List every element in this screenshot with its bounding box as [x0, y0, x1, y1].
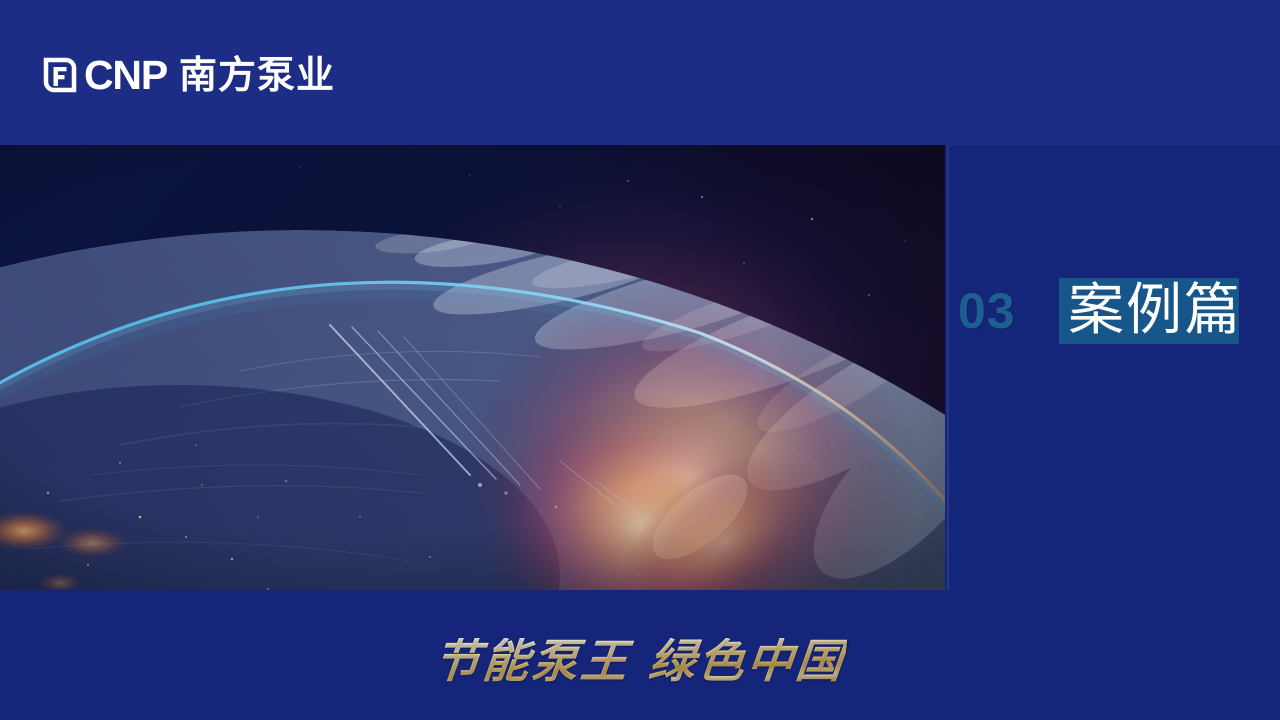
footer-bar: 节能泵王 绿色中国 — [0, 590, 1280, 720]
section-title: 案例篇 — [1068, 281, 1242, 341]
cnp-monogram-icon — [40, 56, 78, 94]
logo-chinese-text: 南方泵业 — [179, 56, 335, 94]
earth-from-space-photo — [0, 145, 945, 590]
brand-logo: CNP 南方泵业 — [40, 50, 335, 100]
slide-root: CNP 南方泵业 — [0, 0, 1280, 720]
section-number: 03 — [958, 286, 1016, 336]
company-slogan: 节能泵王 绿色中国 — [432, 638, 848, 684]
header-bar: CNP 南方泵业 — [0, 0, 1280, 145]
panel-divider — [947, 145, 949, 590]
logo-latin-text: CNP — [84, 55, 167, 96]
